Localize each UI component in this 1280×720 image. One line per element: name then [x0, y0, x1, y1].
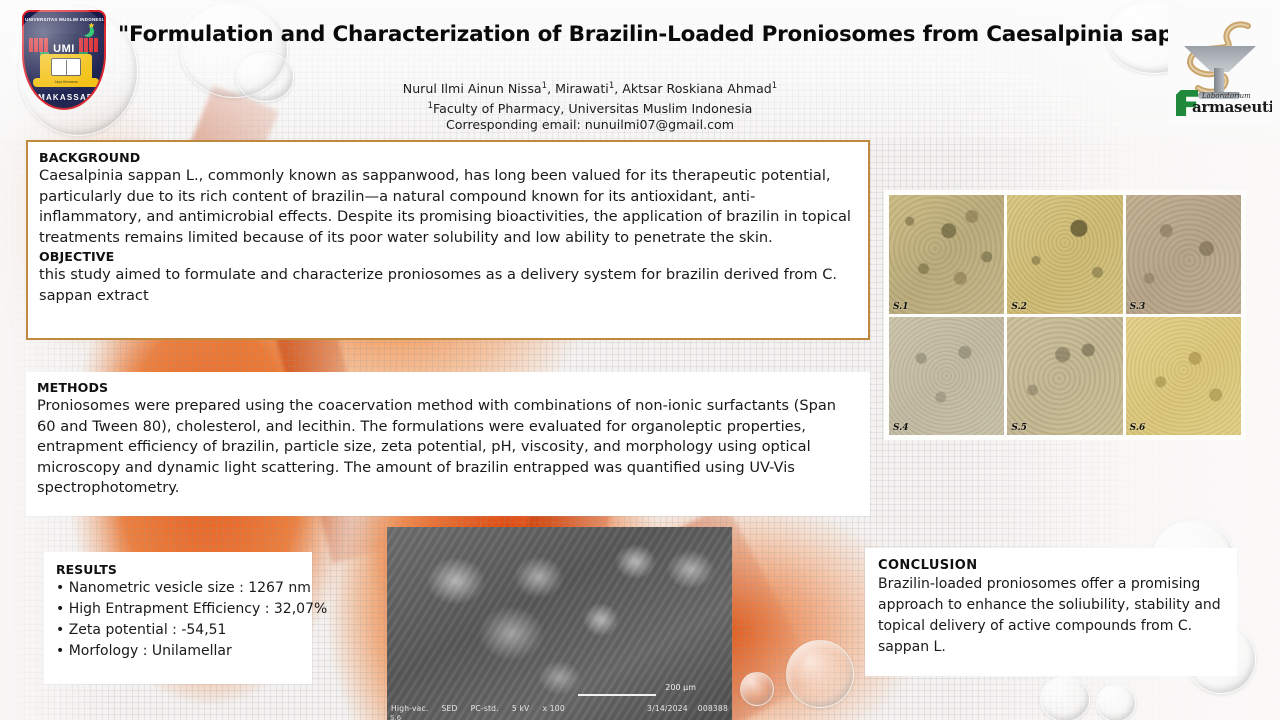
microscopy-panel-label: S.2: [1011, 302, 1027, 312]
sem-status-bar: High-vac. SED PC-std. 5 kV x 100 3/14/20…: [387, 702, 732, 714]
sem-micrograph: 200 µm High-vac. SED PC-std. 5 kV x 100 …: [387, 527, 732, 720]
microscopy-panel: S.3: [1126, 195, 1241, 314]
sem-corner-label: S.6: [390, 714, 401, 720]
sem-serial: 008388: [698, 704, 728, 713]
poster-header: UNIVERSITAS MUSLIM INDONESIA ★ UMI Jaya …: [0, 0, 1280, 140]
list-item: High Entrapment Efficiency : 32,07%: [56, 599, 302, 620]
conclusion-section-panel: CONCLUSION Brazilin-loaded proniosomes o…: [865, 548, 1237, 676]
poster-canvas: UNIVERSITAS MUSLIM INDONESIA ★ UMI Jaya …: [0, 0, 1280, 720]
conclusion-section-title: CONCLUSION: [878, 558, 1227, 573]
umi-city-text: MAKASSAR: [24, 93, 106, 102]
microscopy-panel-label: S.1: [893, 302, 909, 312]
sem-vacuum-mode: High-vac.: [391, 704, 429, 713]
microscopy-panel-label: S.5: [1011, 423, 1027, 433]
farmaseutik-lab-logo: Laboratorium armaseutik: [1168, 8, 1272, 124]
farmaseutik-text: armaseutik: [1192, 98, 1272, 116]
umi-scroll-banner: Jaya Bersama: [33, 78, 99, 87]
results-list: Nanometric vesicle size : 1267 nm High E…: [56, 578, 302, 662]
sem-voltage: 5 kV: [512, 704, 530, 713]
methods-section-title: METHODS: [37, 380, 859, 395]
sem-date: 3/14/2024: [647, 704, 688, 713]
conclusion-section-body: Brazilin-loaded proniosomes offer a prom…: [878, 574, 1227, 658]
author-affiliation: 1Faculty of Pharmacy, Universitas Muslim…: [180, 98, 1000, 118]
page-title: "Formulation and Characterization of Bra…: [118, 22, 1190, 47]
sem-scale-bar: [578, 694, 656, 696]
microscopy-panel: S.4: [889, 317, 1004, 436]
sem-preset: PC-std.: [471, 704, 499, 713]
umi-shield-icon: UNIVERSITAS MUSLIM INDONESIA ★ UMI Jaya …: [22, 10, 106, 110]
water-droplet: [1040, 676, 1090, 720]
list-item: Zeta potential : -54,51: [56, 620, 302, 641]
water-droplet: [786, 640, 854, 708]
umi-red-ornament: [79, 38, 99, 52]
open-book-icon: [51, 58, 81, 76]
microscopy-panel: S.1: [889, 195, 1004, 314]
author-block: Nurul Ilmi Ainun Nissa1, Mirawati1, Akts…: [180, 78, 1000, 134]
umi-red-ornament: [29, 38, 49, 52]
water-droplet: [740, 672, 774, 706]
results-section-title: RESULTS: [56, 562, 302, 577]
corresponding-email: Corresponding email: nunuilmi07@gmail.co…: [180, 117, 1000, 134]
sem-magnification: x 100: [542, 704, 564, 713]
background-section-body: Caesalpinia sappan L., commonly known as…: [39, 166, 857, 248]
author-names: Nurul Ilmi Ainun Nissa1, Mirawati1, Akts…: [180, 78, 1000, 98]
objective-section-title: OBJECTIVE: [39, 249, 857, 264]
farmaseutik-wordmark: Laboratorium armaseutik: [1172, 90, 1268, 118]
results-section-panel: RESULTS Nanometric vesicle size : 1267 n…: [44, 552, 312, 684]
list-item: Morfology : Unilamellar: [56, 641, 302, 662]
microscopy-panel-label: S.4: [893, 423, 909, 433]
background-section-panel: BACKGROUND Caesalpinia sappan L., common…: [26, 140, 870, 340]
microscopy-panel: S.2: [1007, 195, 1122, 314]
sem-scale-label: 200 µm: [665, 683, 696, 692]
background-section-title: BACKGROUND: [39, 150, 857, 165]
methods-section-panel: METHODS Proniosomes were prepared using …: [26, 372, 870, 516]
microscopy-panel-label: S.3: [1130, 302, 1146, 312]
microscopy-panel-label: S.6: [1130, 423, 1146, 433]
umi-university-logo: UNIVERSITAS MUSLIM INDONESIA ★ UMI Jaya …: [12, 4, 116, 116]
microscopy-panel: S.6: [1126, 317, 1241, 436]
microscopy-panel: S.5: [1007, 317, 1122, 436]
methods-section-body: Proniosomes were prepared using the coac…: [37, 396, 859, 499]
list-item: Nanometric vesicle size : 1267 nm: [56, 578, 302, 599]
water-droplet: [1096, 684, 1136, 720]
objective-section-body: this study aimed to formulate and charac…: [39, 265, 857, 306]
sem-detector: SED: [442, 704, 458, 713]
microscopy-image-grid: S.1 S.2 S.3 S.4 S.5 S.6: [884, 190, 1246, 440]
star-icon: ★: [88, 22, 95, 30]
